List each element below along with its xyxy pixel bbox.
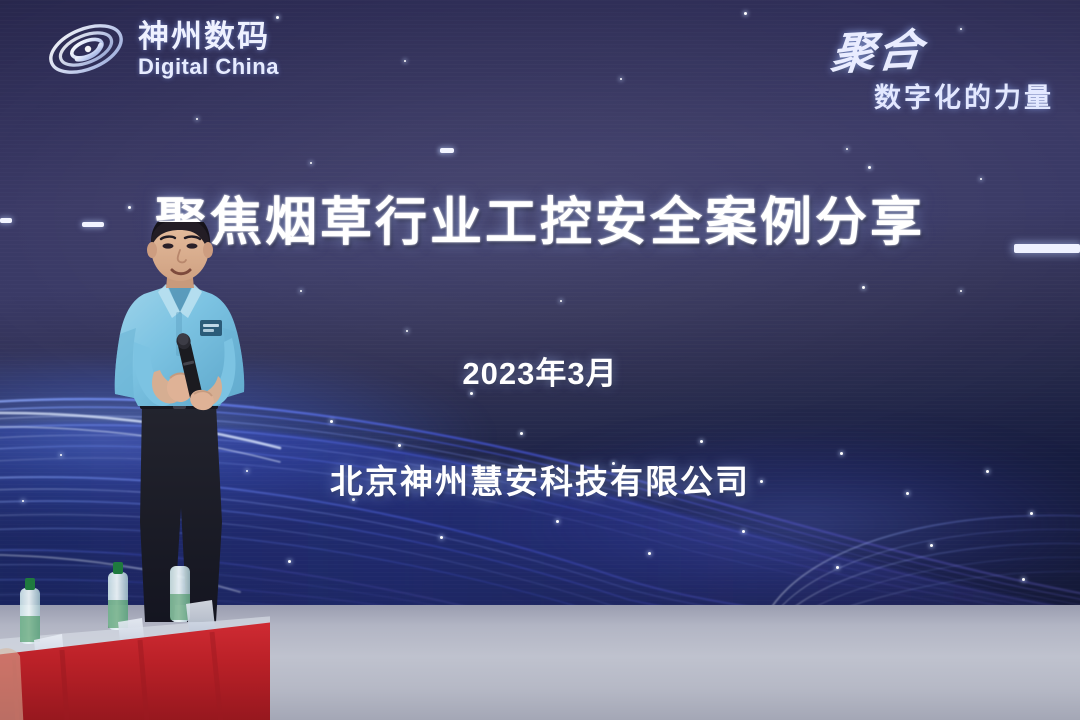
digital-china-logo: 神州数码 Digital China — [44, 18, 279, 80]
water-bottle — [20, 578, 40, 644]
shirt-logo-badge — [200, 320, 222, 336]
water-bottle — [108, 562, 128, 630]
front-row-table — [0, 560, 270, 720]
water-bottle — [170, 566, 190, 622]
decor-dash-top-mid — [440, 148, 454, 153]
conference-stage-photo: 神州数码 Digital China 聚合 数字化的力量 聚焦烟草行业工控安全案… — [0, 0, 1080, 720]
slogan-sub-text: 数字化的力量 — [832, 76, 1054, 115]
brand-name-en: Digital China — [138, 56, 279, 78]
slogan-brush-text: 聚合 — [828, 14, 927, 83]
digital-china-spiral-logo-icon — [44, 18, 128, 80]
brand-name-cn: 神州数码 — [138, 21, 279, 52]
event-slogan: 聚合 数字化的力量 — [832, 16, 1054, 115]
